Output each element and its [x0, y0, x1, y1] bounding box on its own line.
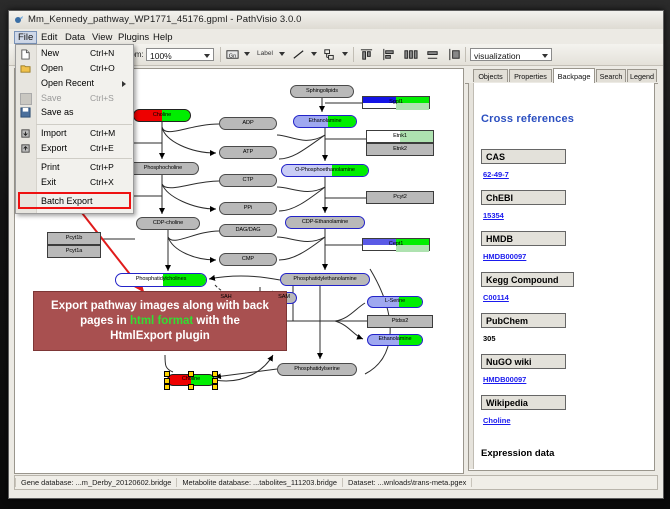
align-top-icon[interactable] — [359, 47, 374, 62]
cross-references-heading: Cross references — [481, 113, 574, 125]
node-ethanolamine-2[interactable]: Ethanolamine — [367, 334, 423, 346]
node-phosphatidylcholines[interactable]: Phosphatidylcholines — [115, 273, 207, 287]
tab-backpage[interactable]: Backpage — [553, 68, 595, 83]
file-menu-exit[interactable]: Exit — [41, 177, 56, 187]
expression-data-heading: Expression data — [481, 448, 554, 459]
node-phosphocholine[interactable]: Phosphocholine — [127, 162, 199, 175]
backpage-content: Cross references CAS 62-49-7 ChEBI 15354… — [468, 83, 655, 471]
datanode-dropdown-arrow[interactable] — [244, 52, 250, 56]
xref-label-kegg: Kegg Compound — [481, 272, 574, 287]
file-menu-print[interactable]: Print — [41, 162, 60, 172]
node-etnk2[interactable]: Etnk2 — [366, 143, 434, 156]
xref-value-cas[interactable]: 62-49-7 — [483, 170, 509, 179]
xref-value-pubchem: 305 — [483, 334, 496, 343]
node-sgpl1[interactable]: Sgpl1 — [362, 96, 430, 109]
file-menu-print-shortcut: Ctrl+P — [90, 162, 114, 172]
application-window: Mm_Kennedy_pathway_WP1771_45176.gpml - P… — [8, 10, 664, 499]
status-gene-database: Gene database: ...m_Derby_20120602.bridg… — [15, 478, 177, 487]
menu-bar: File Edit Data View Plugins Help — [9, 29, 663, 45]
submenu-arrow-icon — [122, 81, 126, 87]
file-menu-export[interactable]: Export — [41, 143, 67, 153]
selection-handle-se[interactable] — [212, 384, 218, 390]
new-file-icon — [20, 49, 31, 60]
xref-value-kegg[interactable]: C00114 — [483, 293, 509, 302]
datanode-icon[interactable]: Gn — [225, 47, 240, 62]
callout-line2-b: with the — [193, 315, 240, 327]
tab-legend[interactable]: Legend — [627, 69, 657, 82]
callout-highlight: html format — [130, 315, 193, 327]
node-l-serine[interactable]: L-Serine — [367, 296, 423, 308]
node-pcyt1a[interactable]: Pcyt1a — [47, 245, 101, 258]
node-pcyt2[interactable]: Pcyt2 — [366, 191, 434, 204]
pathvisio-icon — [14, 15, 24, 25]
xref-label-cas: CAS — [481, 149, 566, 164]
menu-divider-1 — [36, 124, 132, 125]
file-menu-exit-shortcut: Ctrl+X — [90, 177, 114, 187]
file-menu-new[interactable]: New — [41, 48, 59, 58]
label-tool-label[interactable]: Label — [257, 50, 273, 57]
node-ctp[interactable]: CTP — [219, 174, 277, 187]
node-phosphatidylethanolamine[interactable]: Phosphatidylethanolamine — [280, 273, 370, 286]
anchor-dropdown-arrow[interactable] — [342, 52, 348, 56]
node-atp[interactable]: ATP — [219, 146, 277, 159]
status-bar: Gene database: ...m_Derby_20120602.bridg… — [14, 475, 658, 490]
visualization-combobox[interactable]: visualization — [470, 48, 552, 61]
save-icon — [20, 93, 32, 105]
node-dag[interactable]: DAG/DAG — [219, 224, 277, 237]
xref-value-chebi[interactable]: 15354 — [483, 211, 504, 220]
anchor-icon[interactable] — [322, 47, 337, 62]
status-dataset: Dataset: ...wnloads\trans-meta.pgex — [343, 478, 472, 487]
line-icon[interactable] — [291, 47, 306, 62]
xref-label-wikipedia: Wikipedia — [481, 395, 566, 410]
selection-handle-nw[interactable] — [164, 371, 170, 377]
tab-properties[interactable]: Properties — [509, 69, 552, 82]
file-menu-batch-export[interactable]: Batch Export — [41, 196, 93, 206]
chevron-down-icon — [204, 54, 210, 58]
zoom-value: 100% — [150, 51, 172, 61]
xref-value-wikipedia[interactable]: Choline — [483, 416, 511, 425]
same-height-icon[interactable] — [447, 47, 462, 62]
export-icon — [20, 143, 31, 154]
node-etnk1[interactable]: Etnk1 — [366, 130, 434, 143]
callout-line1: Export pathway images along with back — [51, 300, 269, 312]
node-cept1[interactable]: Cept1 — [362, 238, 430, 251]
svg-text:Gn: Gn — [229, 53, 236, 59]
file-menu-dropdown[interactable]: New Ctrl+N Open Ctrl+O Open Recent Save … — [15, 44, 134, 214]
callout-annotation: Export pathway images along with back pa… — [33, 291, 287, 351]
menu-data[interactable]: Data — [61, 31, 89, 44]
tab-objects[interactable]: Objects — [473, 69, 508, 82]
window-title: Mm_Kennedy_pathway_WP1771_45176.gpml - P… — [28, 14, 302, 25]
distribute-horizontal-icon[interactable] — [403, 47, 418, 62]
file-menu-import-shortcut: Ctrl+M — [90, 128, 115, 138]
node-cdp-ethanolamine[interactable]: CDP-Ethanolamine — [285, 216, 365, 229]
side-panel: Objects Properties Backpage Search Legen… — [465, 68, 658, 472]
selection-handle-sw[interactable] — [164, 384, 170, 390]
folder-open-icon — [20, 64, 31, 74]
menu-plugins[interactable]: Plugins — [114, 31, 153, 44]
tab-search[interactable]: Search — [596, 69, 626, 82]
node-ptdss2[interactable]: Ptdss2 — [367, 315, 433, 328]
node-o-phosphoethanolamine[interactable]: O-Phosphoethanolamine — [281, 164, 369, 177]
xref-label-pubchem: PubChem — [481, 313, 566, 328]
xref-label-hmdb: HMDB — [481, 231, 566, 246]
file-menu-import[interactable]: Import — [41, 128, 67, 138]
callout-line2-a: pages in — [80, 315, 130, 327]
import-icon — [20, 128, 31, 139]
node-ethanolamine[interactable]: Ethanolamine — [293, 115, 357, 128]
file-menu-save-shortcut: Ctrl+S — [90, 93, 114, 103]
file-menu-save-as[interactable]: Save as — [41, 107, 74, 117]
node-cmp[interactable]: CMP — [219, 253, 277, 266]
chevron-down-icon-2 — [542, 54, 548, 58]
callout-line3: HtmlExport plugin — [110, 330, 210, 342]
node-sphingolipids[interactable]: Sphingolipids — [290, 85, 354, 98]
node-pcyt1b[interactable]: Pcyt1b — [47, 232, 101, 245]
file-menu-open-shortcut: Ctrl+O — [90, 63, 115, 73]
title-bar: Mm_Kennedy_pathway_WP1771_45176.gpml - P… — [9, 11, 663, 30]
node-phosphatidylserine[interactable]: Phosphatidylserine — [277, 363, 357, 376]
line-dropdown-arrow[interactable] — [311, 52, 317, 56]
node-ppi[interactable]: PPi — [219, 202, 277, 215]
panel-left-rail — [469, 83, 474, 469]
menu-view[interactable]: View — [88, 31, 116, 44]
menu-divider-2 — [36, 158, 132, 159]
save-as-icon — [20, 107, 31, 118]
visualization-value: visualization — [474, 51, 520, 61]
status-metabolite-database: Metabolite database: ...tabolites_111203… — [177, 478, 343, 487]
xref-value-hmdb[interactable]: HMDB00097 — [483, 252, 526, 261]
file-menu-open-recent[interactable]: Open Recent — [41, 78, 94, 88]
label-dropdown-arrow[interactable] — [279, 52, 285, 56]
menu-file[interactable]: File — [14, 31, 37, 44]
xref-label-nugo: NuGO wiki — [481, 354, 566, 369]
file-menu-open[interactable]: Open — [41, 63, 63, 73]
menu-edit[interactable]: Edit — [37, 31, 61, 44]
file-menu-save: Save — [41, 93, 62, 103]
selection-handle-s[interactable] — [188, 384, 194, 390]
node-choline[interactable]: Choline — [133, 109, 191, 122]
zoom-combobox[interactable]: 100% — [146, 48, 214, 61]
xref-label-chebi: ChEBI — [481, 190, 566, 205]
file-menu-export-shortcut: Ctrl+E — [90, 143, 114, 153]
node-adp[interactable]: ADP — [219, 117, 277, 130]
xref-value-nugo[interactable]: HMDB00097 — [483, 375, 526, 384]
file-menu-new-shortcut: Ctrl+N — [90, 48, 114, 58]
same-width-icon[interactable] — [425, 47, 440, 62]
align-left-icon[interactable] — [381, 47, 396, 62]
node-cdp-choline[interactable]: CDP-choline — [136, 217, 200, 230]
side-panel-tabs: Objects Properties Backpage Search Legen… — [465, 68, 658, 84]
selection-handle-ne[interactable] — [212, 371, 218, 377]
menu-help[interactable]: Help — [149, 31, 177, 44]
